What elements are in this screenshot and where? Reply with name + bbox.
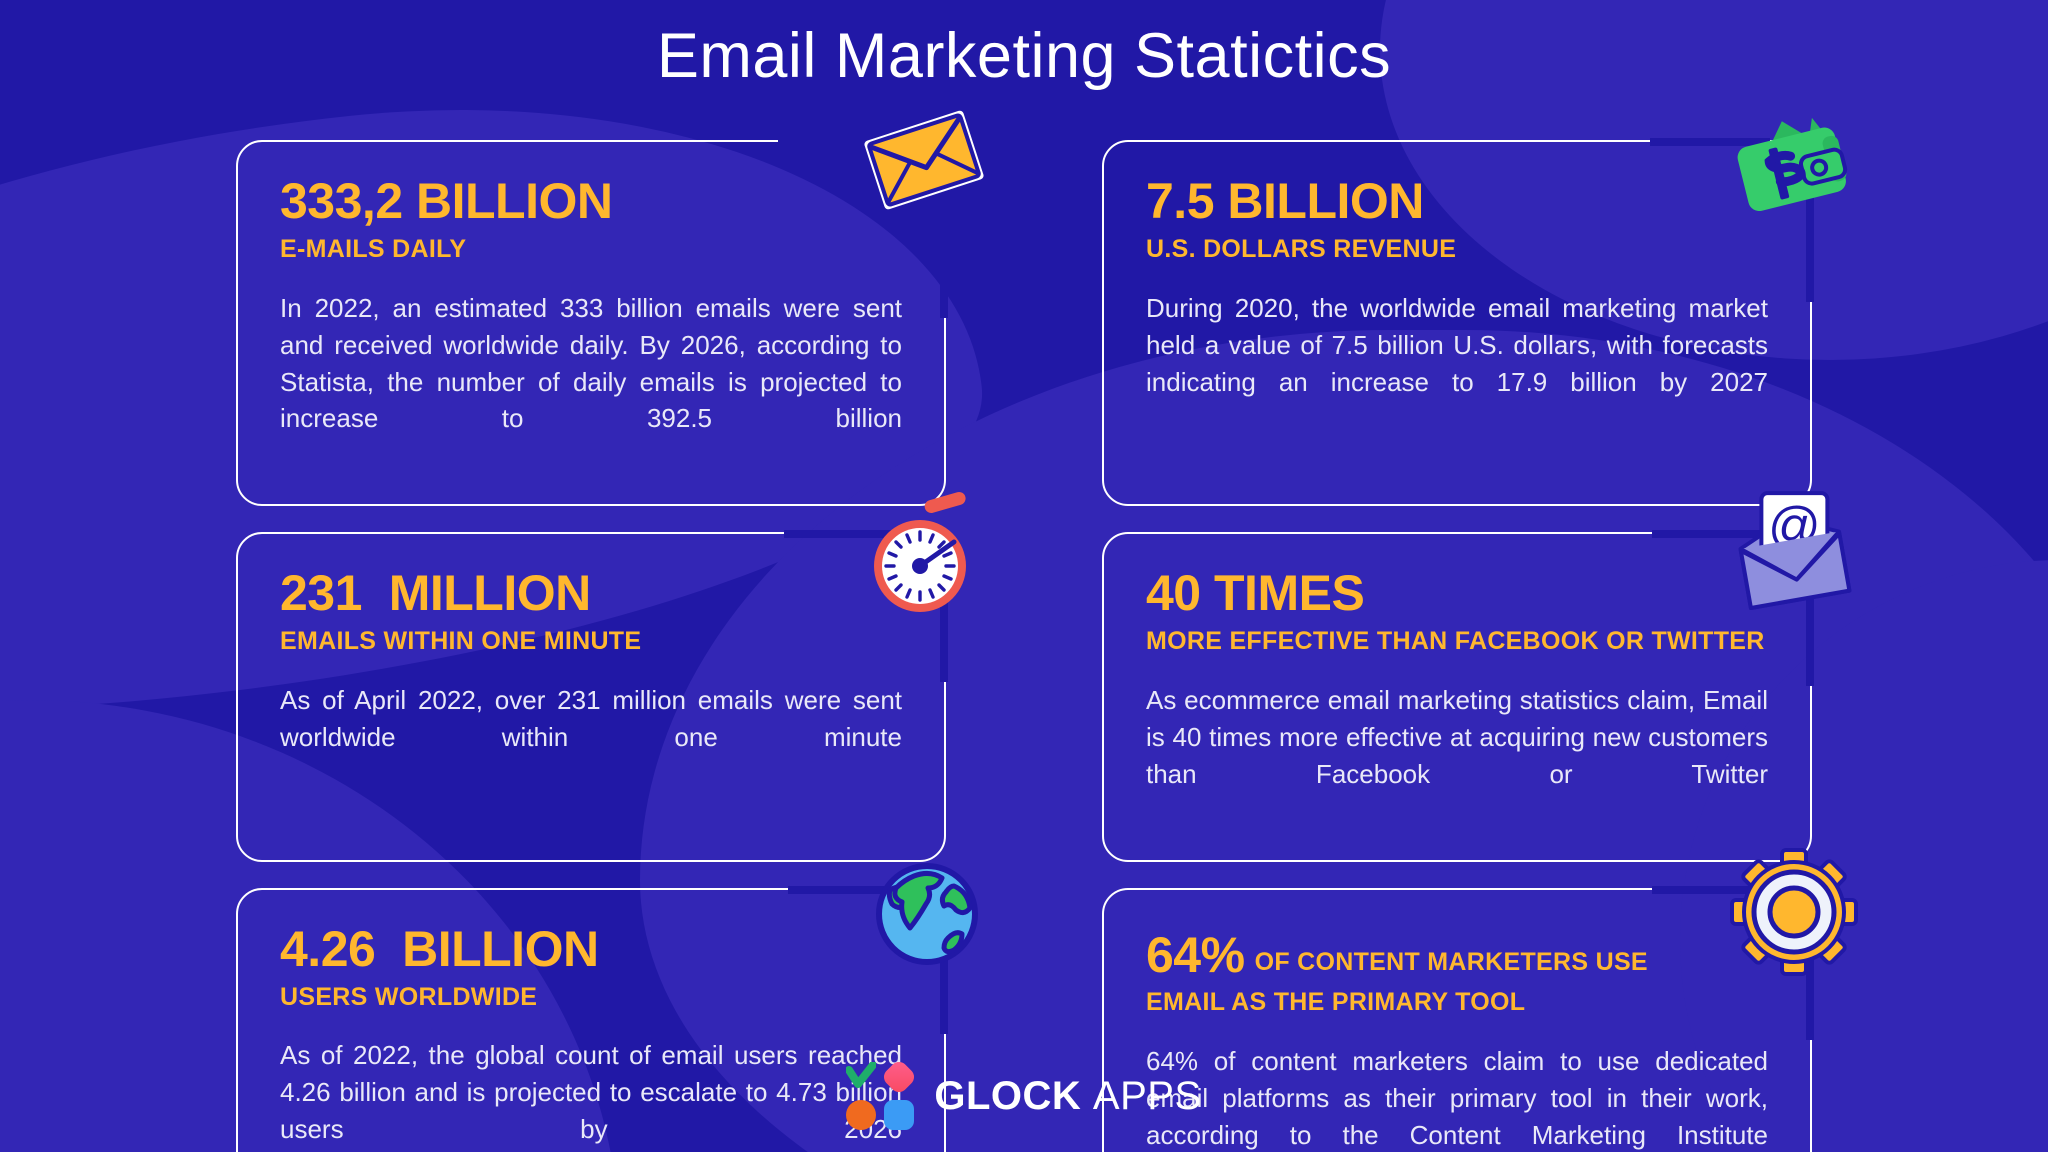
stat-value-inline: 64%OF CONTENT MARKETERS USE <box>1146 924 1768 987</box>
stats-grid: 333,2 BILLION E-MAILS DAILY In 2022, an … <box>236 140 1812 1152</box>
stat-label: USERS WORLDWIDE <box>280 983 902 1012</box>
stat-description: As ecommerce email marketing statistics … <box>1146 682 1768 830</box>
stat-description: As of April 2022, over 231 million email… <box>280 682 902 793</box>
stat-description: In 2022, an estimated 333 billion emails… <box>280 290 902 475</box>
at-envelope-icon: @ <box>1722 488 1862 623</box>
infographic-canvas: Email Marketing Statictics 333,2 BILLION… <box>0 0 2048 1152</box>
stat-card-emails-daily: 333,2 BILLION E-MAILS DAILY In 2022, an … <box>236 140 946 506</box>
stat-label: U.S. DOLLARS REVENUE <box>1146 235 1768 264</box>
logo-name-bold: GLOCK <box>934 1074 1081 1118</box>
logo-name-light: APPS <box>1093 1074 1202 1118</box>
stat-label: MORE EFFECTIVE THAN FACEBOOK OR TWITTER <box>1146 627 1768 656</box>
logo-square-shape <box>884 1100 914 1130</box>
stat-value: 231 MILLION <box>280 568 902 618</box>
logo-wordmark: GLOCK APPS <box>934 1074 1201 1119</box>
wallet-icon <box>1722 102 1862 227</box>
logo-check-icon <box>846 1062 876 1092</box>
stat-label: OF CONTENT MARKETERS USE <box>1255 948 1648 976</box>
envelope-icon <box>854 100 994 225</box>
logo-mark <box>846 1062 914 1130</box>
stat-value: 333,2 BILLION <box>280 176 902 226</box>
stat-label: EMAILS WITHIN ONE MINUTE <box>280 627 902 656</box>
stopwatch-icon <box>854 490 994 625</box>
stat-label: E-MAILS DAILY <box>280 235 902 264</box>
globe-icon <box>862 846 992 981</box>
stat-value: 40 TIMES <box>1146 568 1768 618</box>
brand-logo[interactable]: GLOCK APPS <box>0 1062 2048 1130</box>
stat-value: 64% <box>1146 927 1245 983</box>
stat-card-dollars-revenue: 7.5 BILLION U.S. DOLLARS REVENUE During … <box>1102 140 1812 506</box>
stat-value: 4.26 BILLION <box>280 924 902 974</box>
page-title: Email Marketing Statictics <box>0 20 2048 92</box>
logo-diamond-shape <box>881 1058 918 1095</box>
stat-card-emails-per-minute: 231 MILLION EMAILS WITHIN ONE MINUTE As … <box>236 532 946 861</box>
stat-value: 7.5 BILLION <box>1146 176 1768 226</box>
stat-description: During 2020, the worldwide email marketi… <box>1146 290 1768 438</box>
gear-icon <box>1726 842 1866 987</box>
stat-card-more-effective: 40 TIMES MORE EFFECTIVE THAN FACEBOOK OR… <box>1102 532 1812 861</box>
stat-label-second-line: EMAIL AS THE PRIMARY TOOL <box>1146 988 1768 1017</box>
logo-circle-shape <box>846 1100 876 1130</box>
